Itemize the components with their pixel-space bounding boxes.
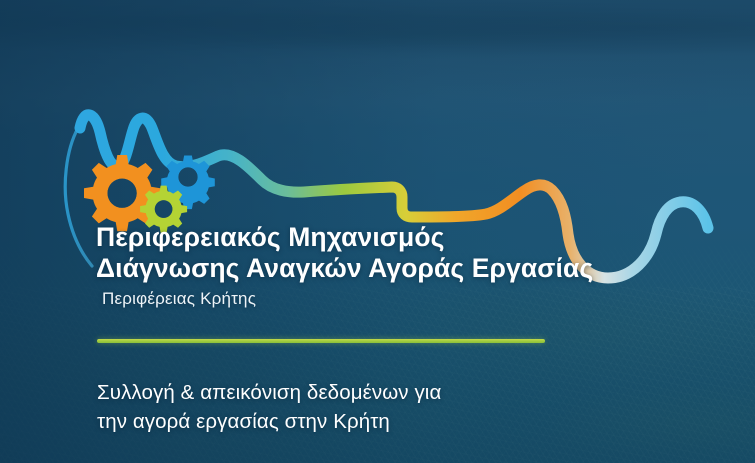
region-subtitle: Περιφέρειας Κρήτης (102, 289, 716, 309)
title-block: Περιφερειακός Μηχανισμός Διάγνωσης Αναγκ… (96, 222, 716, 309)
hero-banner: Περιφερειακός Μηχανισμός Διάγνωσης Αναγκ… (0, 0, 755, 463)
green-divider-line (97, 339, 545, 343)
page-title: Περιφερειακός Μηχανισμός Διάγνωσης Αναγκ… (96, 222, 716, 283)
tagline: Συλλογή & απεικόνιση δεδομένων για την α… (97, 378, 657, 436)
